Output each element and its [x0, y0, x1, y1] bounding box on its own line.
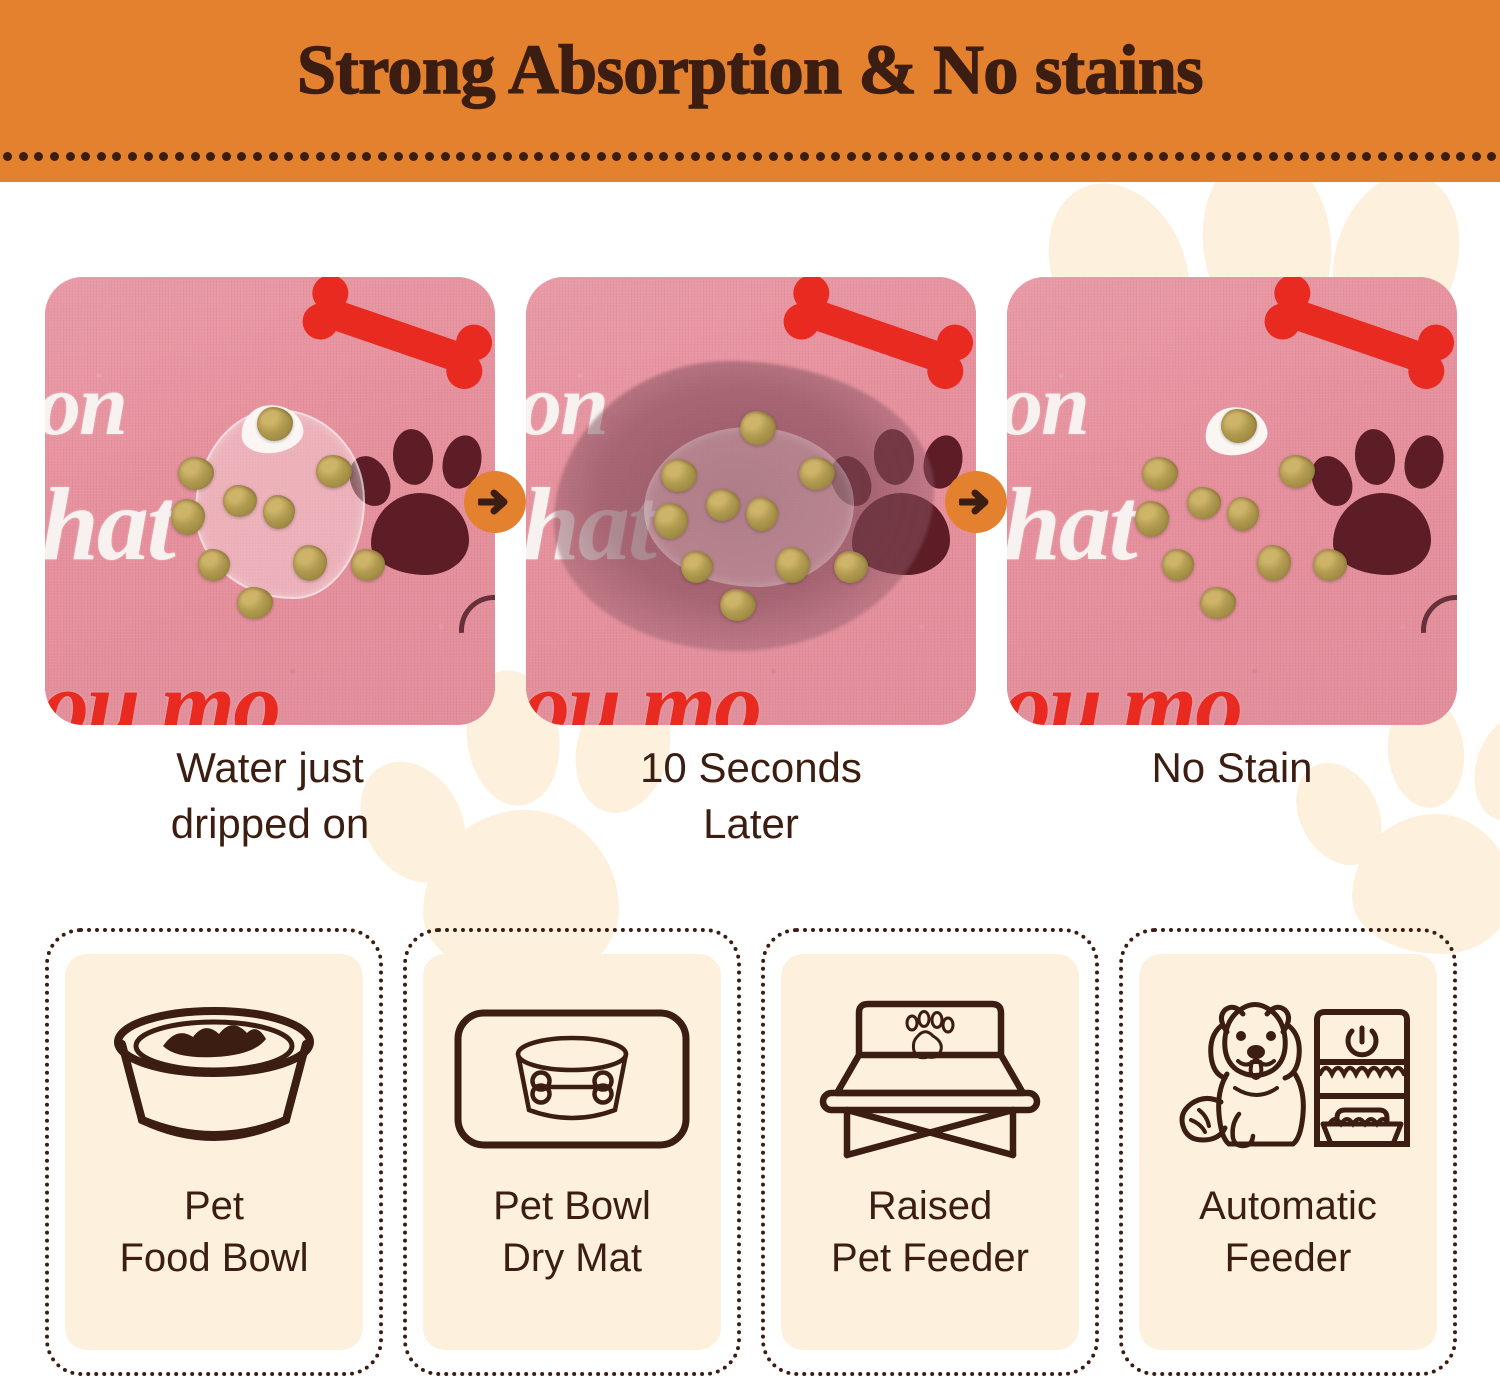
header-dot — [81, 152, 90, 161]
demo-caption-no-stain: No Stain — [1007, 740, 1457, 796]
header-dot — [206, 152, 215, 161]
header-dot — [659, 152, 668, 161]
use-case-card-label: Raised Pet Feeder — [831, 1180, 1029, 1284]
header-dot — [1222, 152, 1231, 161]
header-dot — [722, 152, 731, 161]
header-dot — [3, 152, 12, 161]
header-dot — [1175, 152, 1184, 161]
header-dot — [800, 152, 809, 161]
mat-word-bottom: ou mo — [1007, 649, 1241, 725]
product-infographic: Strong Absorption & No stains on hat ou … — [0, 0, 1500, 1393]
header-dot — [1066, 152, 1075, 161]
header-dot — [300, 152, 309, 161]
header-dot — [1253, 152, 1262, 161]
header-dot — [66, 152, 75, 161]
header-dot — [441, 152, 450, 161]
header-dot — [1206, 152, 1215, 161]
header-dot — [847, 152, 856, 161]
mat-word-on: on — [1007, 355, 1088, 456]
header-dot — [1347, 152, 1356, 161]
header-dot — [1159, 152, 1168, 161]
header-dot — [1019, 152, 1028, 161]
arrow-right-icon — [945, 471, 1007, 533]
header-dot — [691, 152, 700, 161]
header-dot — [597, 152, 606, 161]
header-dot — [1128, 152, 1137, 161]
header-dot — [34, 152, 43, 161]
header-dot — [675, 152, 684, 161]
header-dot — [550, 152, 559, 161]
header-dot — [972, 152, 981, 161]
header-dot — [378, 152, 387, 161]
header-dot — [128, 152, 137, 161]
header-dot — [1316, 152, 1325, 161]
header-dot — [159, 152, 168, 161]
header-dot — [784, 152, 793, 161]
header-dot — [831, 152, 840, 161]
header-dot — [1191, 152, 1200, 161]
demo-caption-ten-seconds-later: 10 Seconds Later — [526, 740, 976, 852]
header-dot — [909, 152, 918, 161]
header-dot — [534, 152, 543, 161]
header-dot — [1487, 152, 1496, 161]
header-dot — [581, 152, 590, 161]
header-dot — [19, 152, 28, 161]
mat-word-hat: hat — [45, 465, 174, 584]
header-dot — [425, 152, 434, 161]
header-dot — [769, 152, 778, 161]
header-dot — [1081, 152, 1090, 161]
arrow-right-icon — [464, 471, 526, 533]
header-dot — [503, 152, 512, 161]
use-case-card-raised-pet-feeder[interactable]: Raised Pet Feeder — [761, 928, 1099, 1376]
mat-word-on: on — [45, 355, 126, 456]
page-title: Strong Absorption & No stains — [0, 32, 1500, 110]
header-dot — [1441, 152, 1450, 161]
header-dot — [987, 152, 996, 161]
use-case-card-pet-food-bowl[interactable]: Pet Food Bowl — [45, 928, 383, 1376]
header-dot — [1112, 152, 1121, 161]
header-dot — [1378, 152, 1387, 161]
header-dot — [269, 152, 278, 161]
header-dot — [1003, 152, 1012, 161]
header-dot — [1050, 152, 1059, 161]
dog-illustration — [1182, 1005, 1303, 1147]
pet-bowl-dry-mat-icon — [453, 984, 691, 1174]
header-dot — [50, 152, 59, 161]
header-dot — [1409, 152, 1418, 161]
header-dot — [1034, 152, 1043, 161]
header-dot — [612, 152, 621, 161]
header-dot — [175, 152, 184, 161]
demo-caption-water-just-dripped-on: Water just dripped on — [45, 740, 495, 852]
header-dot — [1237, 152, 1246, 161]
feeder-unit — [1317, 1012, 1407, 1144]
header-dot — [97, 152, 106, 161]
header-dot — [1269, 152, 1278, 161]
header-dot — [222, 152, 231, 161]
header-dot — [487, 152, 496, 161]
header-dot — [1456, 152, 1465, 161]
header-dot — [1362, 152, 1371, 161]
demo-panel-ten-seconds-later: on hat ou mo — [526, 277, 976, 725]
header-dot — [706, 152, 715, 161]
use-case-card-pet-bowl-dry-mat[interactable]: Pet Bowl Dry Mat — [403, 928, 741, 1376]
header-dot — [519, 152, 528, 161]
header-dot — [472, 152, 481, 161]
header-dot — [956, 152, 965, 161]
header-dot — [1394, 152, 1403, 161]
header-dot — [456, 152, 465, 161]
header-dot — [362, 152, 371, 161]
header-dot — [816, 152, 825, 161]
mat-word-hat: hat — [1007, 465, 1136, 584]
use-case-card-row: Pet Food Bowl Pet — [45, 928, 1457, 1376]
use-case-card-automatic-feeder[interactable]: Automatic Feeder — [1119, 928, 1457, 1376]
mat-word-bottom: ou mo — [526, 649, 760, 725]
header-dot — [941, 152, 950, 161]
header-dot — [1472, 152, 1481, 161]
header-dot — [394, 152, 403, 161]
paw-print-watermark — [1300, 690, 1500, 960]
header-dot — [1300, 152, 1309, 161]
header-dot — [1425, 152, 1434, 161]
header-dot — [628, 152, 637, 161]
use-case-card-label: Pet Food Bowl — [120, 1180, 309, 1284]
header-dot — [347, 152, 356, 161]
header-dot — [253, 152, 262, 161]
automatic-feeder-icon — [1165, 984, 1411, 1174]
use-case-card-label: Automatic Feeder — [1199, 1180, 1377, 1284]
raised-pet-feeder-icon — [811, 984, 1049, 1174]
header-dot — [737, 152, 746, 161]
header-dot — [191, 152, 200, 161]
demo-panel-water-just-dripped-on: on hat ou mo — [45, 277, 495, 725]
header-dot — [316, 152, 325, 161]
pet-food-bowl-icon — [105, 984, 323, 1174]
header-dot — [753, 152, 762, 161]
power-button-icon — [1348, 1028, 1376, 1055]
demo-panel-no-stain: on hat ou mo — [1007, 277, 1457, 725]
header-dot-divider — [0, 149, 1500, 163]
header-dot — [862, 152, 871, 161]
header-dot — [1144, 152, 1153, 161]
header-dot — [1331, 152, 1340, 161]
absorption-demo-row: on hat ou mo on — [45, 277, 1457, 725]
header-dot — [1097, 152, 1106, 161]
header-dot — [566, 152, 575, 161]
header-dot — [925, 152, 934, 161]
header-dot — [284, 152, 293, 161]
header-dot — [237, 152, 246, 161]
header-dot — [144, 152, 153, 161]
use-case-card-label: Pet Bowl Dry Mat — [493, 1180, 651, 1284]
header-banner: Strong Absorption & No stains — [0, 0, 1500, 182]
paw-print-icon — [907, 1012, 953, 1058]
header-dot — [112, 152, 121, 161]
header-dot — [644, 152, 653, 161]
header-dot — [331, 152, 340, 161]
header-dot — [1284, 152, 1293, 161]
header-dot — [409, 152, 418, 161]
header-dot — [894, 152, 903, 161]
mat-word-bottom: ou mo — [45, 649, 279, 725]
header-dot — [878, 152, 887, 161]
